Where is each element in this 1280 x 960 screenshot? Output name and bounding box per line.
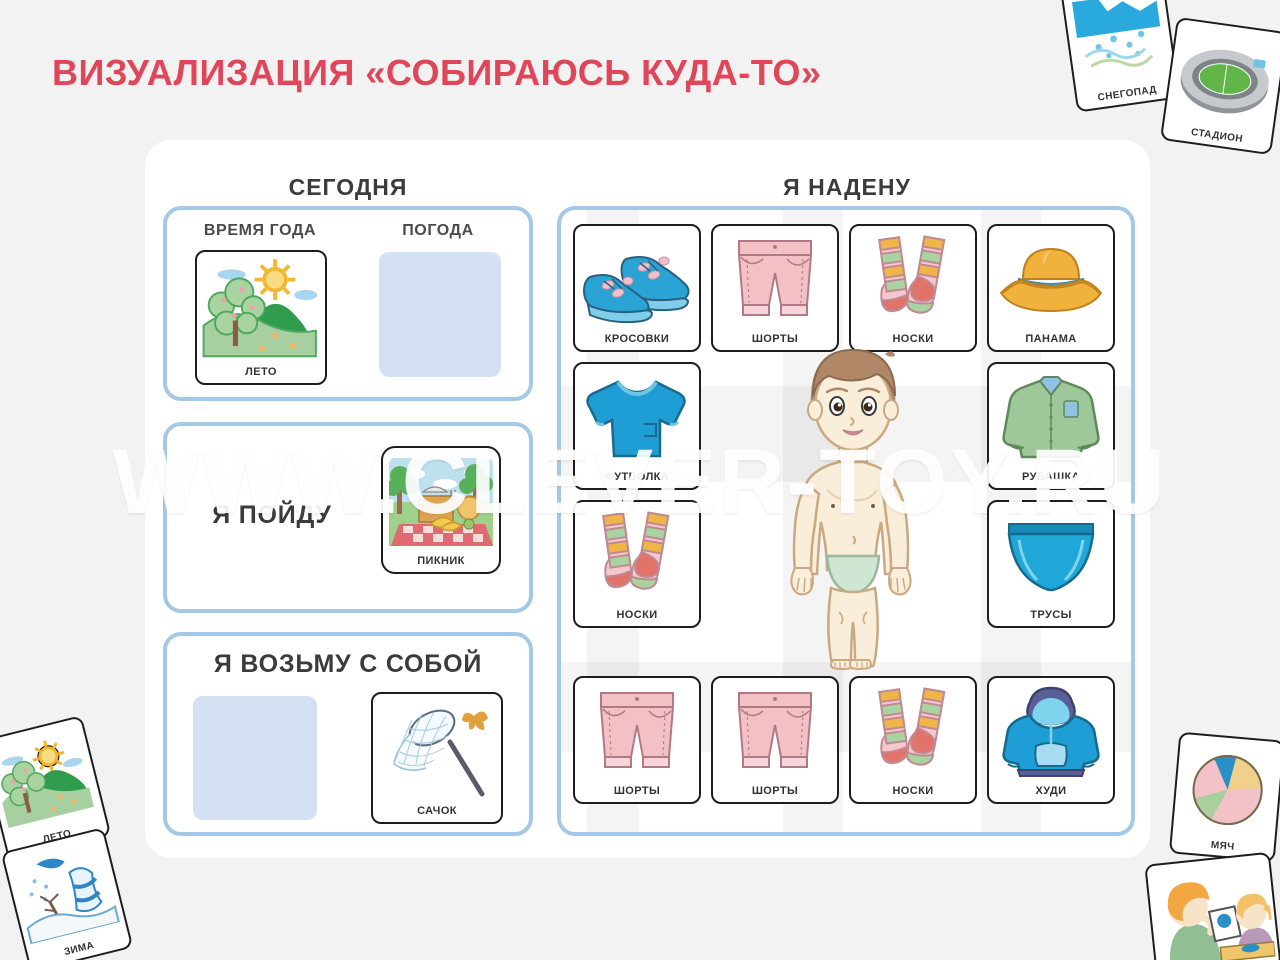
wear-panel: КРОСОВКИ ШОРТЫ bbox=[557, 206, 1135, 836]
boy-figure bbox=[753, 340, 949, 670]
clothing-card-socks[interactable]: НОСКИ bbox=[849, 676, 977, 804]
decor-card-snowfall: СНЕГОПАД bbox=[1060, 0, 1181, 113]
hoodie-icon bbox=[989, 678, 1113, 785]
poster-root: ВИЗУАЛИЗАЦИЯ «СОБИРАЮСЬ КУДА-ТО» СНЕГОПА… bbox=[0, 0, 1280, 960]
decor-card-caption: МЯЧ bbox=[1210, 840, 1235, 857]
going-card-picnic[interactable]: ПИКНИК bbox=[381, 446, 501, 574]
today-panel: ВРЕМЯ ГОДА ПОГОДА bbox=[163, 206, 533, 401]
take-card-net[interactable]: САЧОК bbox=[371, 692, 503, 824]
butterfly-net-icon bbox=[373, 694, 501, 805]
card-caption: ШОРТЫ bbox=[614, 785, 660, 802]
weather-empty-slot[interactable] bbox=[379, 252, 501, 377]
going-heading: Я ПОЙДУ bbox=[177, 501, 367, 530]
card-caption: ТРУСЫ bbox=[1030, 609, 1071, 626]
clothing-card-socks[interactable]: НОСКИ bbox=[573, 500, 701, 628]
shirt-icon bbox=[989, 364, 1113, 471]
card-caption: ПАНАМА bbox=[1025, 333, 1076, 350]
clothing-card-hoodie[interactable]: ХУДИ bbox=[987, 676, 1115, 804]
clothing-card-shorts[interactable]: ШОРТЫ bbox=[711, 224, 839, 352]
clothing-card-shorts[interactable]: ШОРТЫ bbox=[573, 676, 701, 804]
main-board: СЕГОДНЯ ВРЕМЯ ГОДА ПОГОДА bbox=[145, 140, 1150, 858]
clothing-card-shorts[interactable]: ШОРТЫ bbox=[711, 676, 839, 804]
decor-card-winter: ЗИМА bbox=[1, 827, 134, 960]
clothing-card-briefs[interactable]: ТРУСЫ bbox=[987, 500, 1115, 628]
take-empty-slot[interactable] bbox=[193, 696, 317, 820]
section-heading-today: СЕГОДНЯ bbox=[163, 174, 533, 201]
shorts-icon bbox=[713, 226, 837, 333]
shorts-icon bbox=[575, 678, 699, 785]
socks-icon bbox=[851, 226, 975, 333]
tshirt-icon bbox=[575, 364, 699, 471]
winter-icon bbox=[3, 829, 127, 956]
sneakers-icon bbox=[575, 226, 699, 333]
card-caption: КРОСОВКИ bbox=[605, 333, 669, 350]
take-heading: Я ВОЗЬМУ С СОБОЙ bbox=[167, 650, 529, 679]
weather-label: ПОГОДА bbox=[353, 222, 523, 240]
hat-icon bbox=[989, 226, 1113, 333]
clothing-card-sneakers[interactable]: КРОСОВКИ bbox=[573, 224, 701, 352]
picnic-icon bbox=[383, 448, 499, 555]
card-caption: ФУТБОЛКА bbox=[605, 471, 669, 488]
briefs-icon bbox=[989, 502, 1113, 609]
card-caption: ЛЕТО bbox=[245, 366, 277, 383]
summer-icon bbox=[197, 252, 325, 366]
clothing-card-hat[interactable]: ПАНАМА bbox=[987, 224, 1115, 352]
card-caption: ХУДИ bbox=[1036, 785, 1067, 802]
decor-card-ball: МЯЧ bbox=[1169, 732, 1280, 863]
decor-card-teaching-scene bbox=[1144, 852, 1280, 960]
shorts-icon bbox=[713, 678, 837, 785]
decor-card-stadium: СТАДИОН bbox=[1160, 17, 1280, 155]
card-caption: НОСКИ bbox=[892, 785, 933, 802]
section-heading-wear: Я НАДЕНУ bbox=[557, 174, 1137, 201]
card-caption: САЧОК bbox=[417, 805, 457, 822]
clothing-card-tshirt[interactable]: ФУТБОЛКА bbox=[573, 362, 701, 490]
ball-icon bbox=[1172, 734, 1280, 845]
socks-icon bbox=[851, 678, 975, 785]
season-label: ВРЕМЯ ГОДА bbox=[175, 222, 345, 240]
card-caption: РУБАШКА bbox=[1022, 471, 1080, 488]
page-title: ВИЗУАЛИЗАЦИЯ «СОБИРАЮСЬ КУДА-ТО» bbox=[52, 52, 821, 94]
card-caption: ШОРТЫ bbox=[752, 785, 798, 802]
summer-icon bbox=[0, 717, 105, 844]
season-card-summer[interactable]: ЛЕТО bbox=[195, 250, 327, 385]
clothing-card-socks[interactable]: НОСКИ bbox=[849, 224, 977, 352]
card-caption: ПИКНИК bbox=[417, 555, 465, 572]
socks-icon bbox=[575, 502, 699, 609]
teaching-scene-icon bbox=[1146, 854, 1279, 960]
snowfall-icon bbox=[1062, 0, 1176, 96]
going-panel: Я ПОЙДУ bbox=[163, 422, 533, 613]
clothing-card-shirt[interactable]: РУБАШКА bbox=[987, 362, 1115, 490]
card-caption: НОСКИ bbox=[616, 609, 657, 626]
stadium-icon bbox=[1164, 19, 1280, 138]
take-panel: Я ВОЗЬМУ С СОБОЙ bbox=[163, 632, 533, 836]
